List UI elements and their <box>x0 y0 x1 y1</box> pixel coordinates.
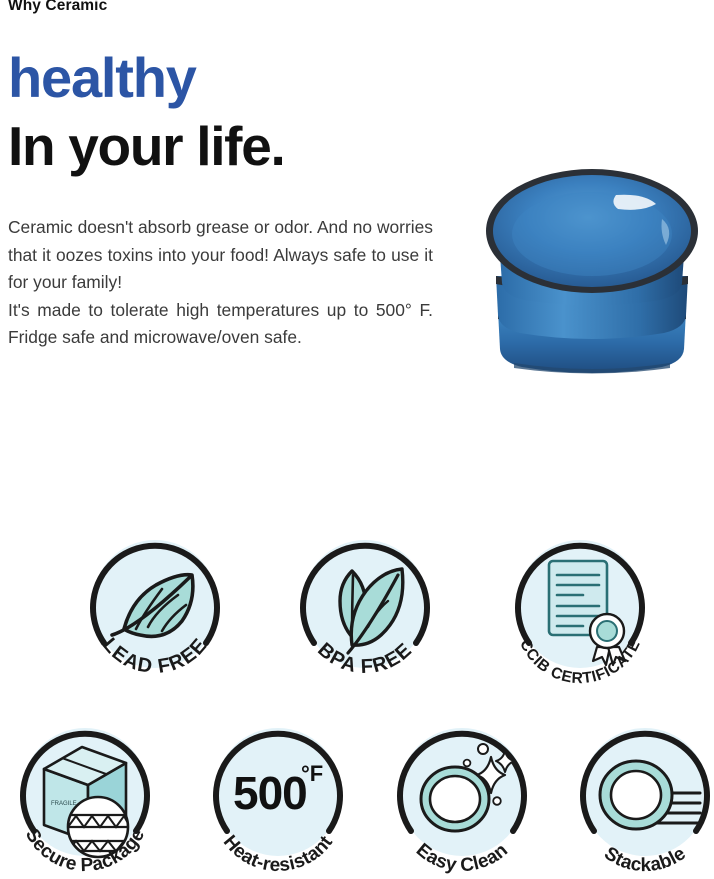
headline-main-line: In your life. <box>8 119 284 174</box>
body-paragraph-2: It's made to tolerate high temperatures … <box>8 297 433 352</box>
temperature-number: 500 <box>233 767 307 819</box>
badge-secure-package: FRAGILE Secure Package <box>10 723 160 873</box>
temperature-unit: °F <box>301 761 323 786</box>
bubble-icon <box>478 744 488 754</box>
section-eyebrow: Why Ceramic <box>8 0 107 15</box>
bubble-icon <box>493 797 501 805</box>
badge-bpa-free: BPA FREE <box>290 535 440 685</box>
box-label: FRAGILE <box>51 801 77 807</box>
badge-lead-free: LEAD FREE <box>80 535 230 685</box>
body-copy: Ceramic doesn't absorb grease or odor. A… <box>8 214 433 352</box>
product-photo-stacked-bowls <box>474 163 710 395</box>
badge-heat-resistant: 500 °F Heat-resistant <box>203 723 353 873</box>
bubble-icon <box>464 760 471 767</box>
bowl-top <box>486 169 698 293</box>
badge-stackable: Stackable <box>570 723 714 873</box>
body-paragraph-1: Ceramic doesn't absorb grease or odor. A… <box>8 214 433 297</box>
badge-easy-clean: Easy Clean <box>387 723 537 873</box>
headline-accent-line: healthy <box>8 50 196 106</box>
badge-ccib-certificate: CCIB CERTIFICATE <box>505 535 655 685</box>
